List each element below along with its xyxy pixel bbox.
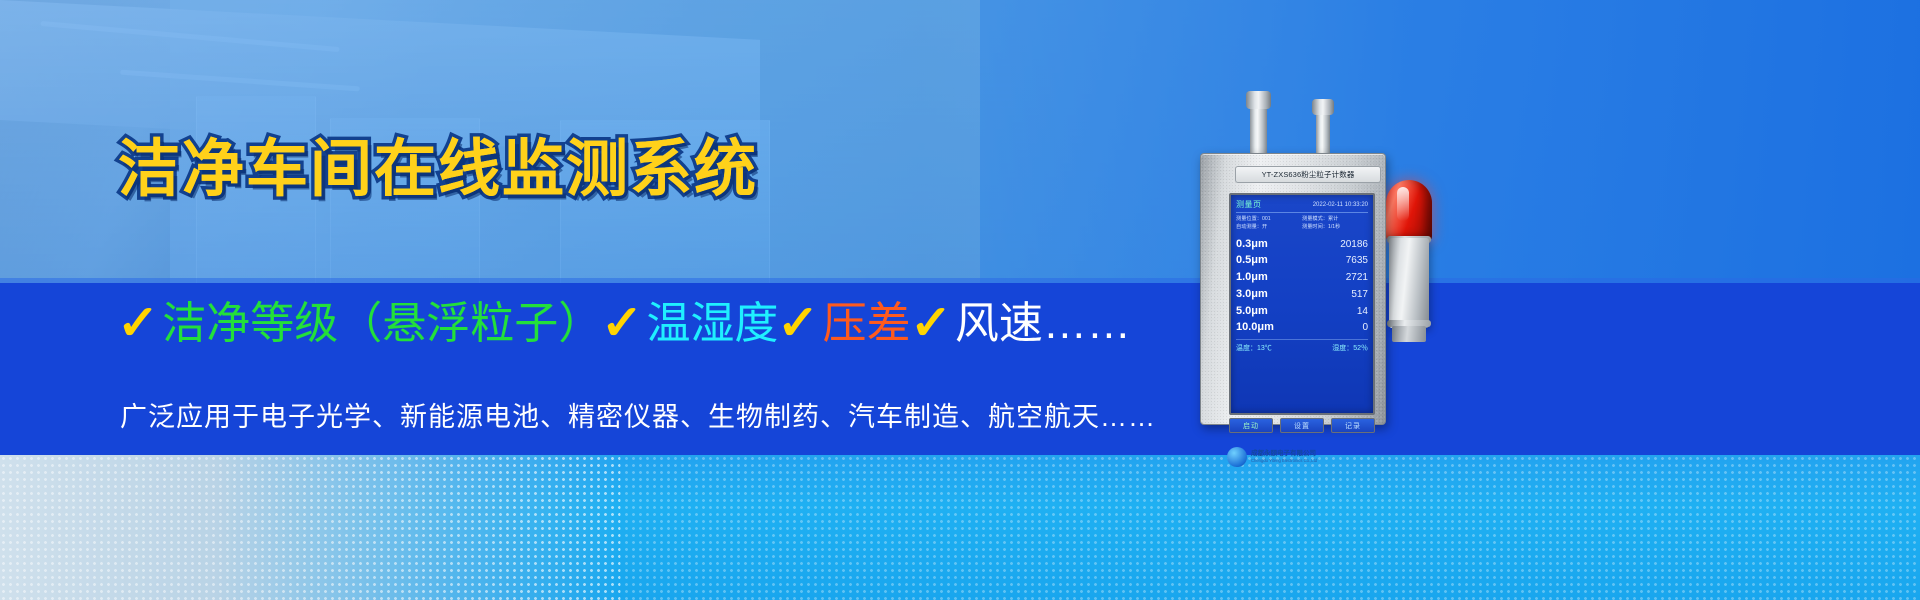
feature-label-temp-humidity: 温湿度: [646, 300, 778, 348]
bottom-left-halftone-dots: [0, 455, 620, 600]
settings-button[interactable]: 设置: [1280, 418, 1324, 433]
device-screen: 测量页 2022-02-11 10:33:20 测量位置：001 测量模式：累计…: [1229, 193, 1375, 415]
probe-inlet-right: [1316, 109, 1330, 157]
probe-cap-left: [1246, 91, 1271, 109]
particle-count: 20186: [1340, 237, 1368, 252]
beacon-body: [1389, 238, 1429, 328]
screen-top-bar: 测量页 2022-02-11 10:33:20: [1236, 199, 1368, 213]
screen-meta-mode: 测量模式：累计: [1302, 215, 1368, 223]
screen-title: 测量页: [1236, 199, 1262, 210]
record-button[interactable]: 记录: [1331, 418, 1375, 433]
alarm-beacon: [1382, 180, 1436, 350]
beacon-red-dome: [1386, 180, 1432, 242]
probe-cap-right: [1312, 99, 1334, 115]
particle-count: 0: [1362, 320, 1368, 335]
table-row: 0.3μm 20186: [1236, 236, 1368, 253]
screen-measurement-table: 0.3μm 20186 0.5μm 7635 1.0μm 2721 3.0μm …: [1236, 236, 1368, 336]
table-row: 3.0μm 517: [1236, 286, 1368, 303]
company-logo-icon: [1227, 447, 1247, 467]
particle-count: 7635: [1346, 253, 1368, 268]
particle-counter-device: YT-ZXS636粉尘粒子计数器 测量页 2022-02-11 10:33:20…: [1186, 85, 1436, 425]
particle-size: 5.0μm: [1236, 303, 1268, 320]
feature-list: ✓ 洁净等级（悬浮粒子） ✓ 温湿度 ✓ 压差 ✓ 风速……: [118, 298, 1131, 351]
feature-label-pressure-diff: 压差: [823, 300, 911, 348]
banner-root: 洁净车间在线监测系统 洁净车间在线监测系统 ✓ 洁净等级（悬浮粒子） ✓ 温湿度…: [0, 0, 1920, 600]
device-model-plate: YT-ZXS636粉尘粒子计数器: [1235, 166, 1381, 183]
feature-label-wind-speed: 风速……: [955, 300, 1131, 348]
particle-size: 1.0μm: [1236, 269, 1268, 286]
device-model-label: YT-ZXS636粉尘粒子计数器: [1262, 169, 1355, 180]
particle-size: 10.0μm: [1236, 319, 1274, 336]
particle-count: 2721: [1346, 270, 1368, 285]
temperature-readout: 温度：13℃: [1236, 343, 1272, 353]
feature-label-cleanliness: 洁净等级（悬浮粒子）: [162, 300, 602, 348]
device-housing: YT-ZXS636粉尘粒子计数器 测量页 2022-02-11 10:33:20…: [1200, 153, 1386, 425]
screen-meta-duration: 测量时间：1/1秒: [1302, 223, 1368, 231]
particle-count: 14: [1357, 304, 1368, 319]
page-title-fill: 洁净车间在线监测系统: [118, 139, 758, 201]
company-name-cn: 成都永颐电子有限公司: [1251, 450, 1317, 458]
probe-inlet-left: [1250, 101, 1267, 157]
particle-size: 0.3μm: [1236, 236, 1268, 253]
table-row: 10.0μm 0: [1236, 319, 1368, 336]
screen-meta-info: 测量位置：001 测量模式：累计 自动测量：开 测量时间：1/1秒: [1236, 215, 1368, 232]
screen-meta-position: 测量位置：001: [1236, 215, 1302, 223]
screen-meta-auto: 自动测量：开: [1236, 223, 1302, 231]
check-icon-2: ✓: [601, 298, 643, 351]
device-button-row: 启动 设置 记录: [1229, 418, 1375, 433]
humidity-readout: 湿度：52％: [1332, 343, 1368, 353]
manufacturer-logo: 成都永颐电子有限公司 Chengdu Yiteng Electronics Co…: [1227, 442, 1377, 472]
check-icon-4: ✓: [910, 298, 952, 351]
screen-timestamp: 2022-02-11 10:33:20: [1313, 202, 1368, 208]
company-name-en: Chengdu Yiteng Electronics Co.,Ltd: [1251, 458, 1317, 463]
screen-environment-readout: 温度：13℃ 湿度：52％: [1236, 339, 1368, 353]
start-button[interactable]: 启动: [1229, 418, 1273, 433]
particle-size: 3.0μm: [1236, 286, 1268, 303]
table-row: 5.0μm 14: [1236, 303, 1368, 320]
company-name-block: 成都永颐电子有限公司 Chengdu Yiteng Electronics Co…: [1251, 450, 1317, 463]
check-icon-1: ✓: [117, 298, 159, 351]
particle-size: 0.5μm: [1236, 252, 1268, 269]
beacon-highlight: [1397, 187, 1409, 221]
table-row: 1.0μm 2721: [1236, 269, 1368, 286]
beacon-base: [1392, 326, 1426, 342]
check-icon-3: ✓: [777, 298, 819, 351]
description-text: 广泛应用于电子光学、新能源电池、精密仪器、生物制药、汽车制造、航空航天……: [120, 395, 1156, 434]
table-row: 0.5μm 7635: [1236, 252, 1368, 269]
particle-count: 517: [1351, 287, 1368, 302]
